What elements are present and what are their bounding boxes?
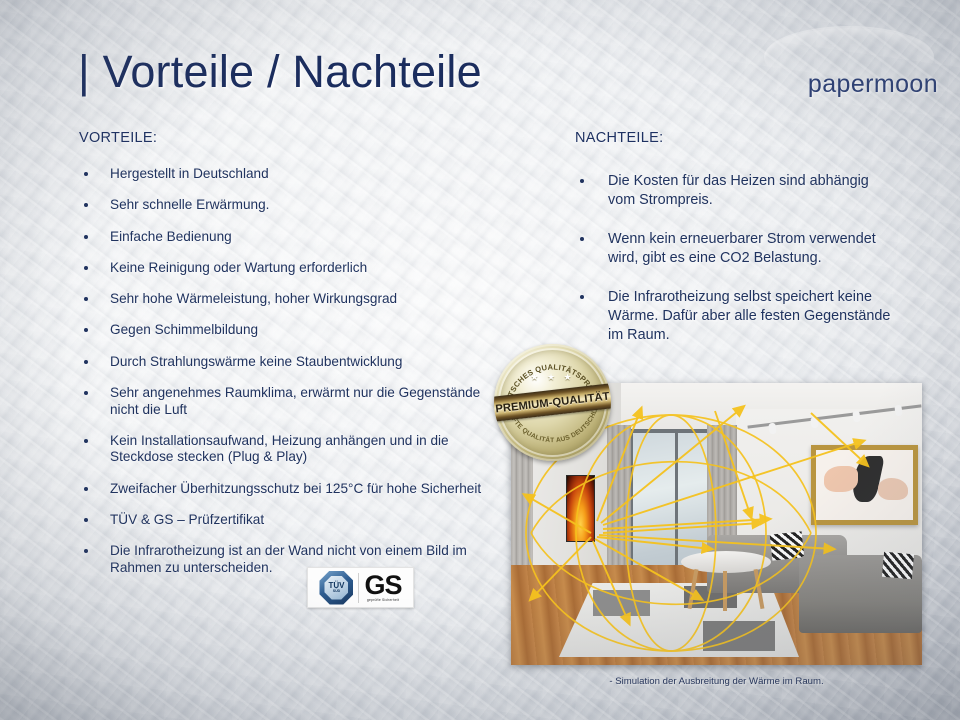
photo-caption: - Simulation der Ausbreitung der Wärme i… — [511, 676, 922, 687]
tuv-octagon-icon: TÜV SÜD — [319, 571, 353, 605]
tuv-sublabel: SÜD — [333, 589, 341, 593]
list-item: Sehr angenehmes Raumklima, erwärmt nur d… — [79, 385, 509, 418]
list-item: Die Kosten für das Heizen sind abhängig … — [575, 172, 895, 210]
list-item: Durch Strahlungswärme keine Staubentwick… — [79, 354, 509, 371]
list-item-label: Die Infrarotheizung ist an der Wand nich… — [79, 543, 509, 576]
list-item-label: Gegen Schimmelbildung — [79, 322, 509, 339]
list-item: Gegen Schimmelbildung — [79, 322, 509, 339]
list-item-label: TÜV & GS – Prüfzertifikat — [79, 512, 509, 529]
list-item-label: Wenn kein erneuerbarer Strom verwendet w… — [575, 230, 895, 268]
tuv-gs-certificate-icon: TÜV SÜD GS geprüfte Sicherheit — [307, 567, 414, 608]
gs-sublabel: geprüfte Sicherheit — [367, 598, 399, 602]
list-item: Die Infrarotheizung selbst speichert kei… — [575, 288, 895, 345]
list-item-label: Die Infrarotheizung selbst speichert kei… — [575, 288, 895, 345]
list-item: Kein Installationsaufwand, Heizung anhän… — [79, 433, 509, 466]
slide-canvas: | Vorteile / Nachteile papermoon VORTEIL… — [0, 0, 960, 720]
page-title: | Vorteile / Nachteile — [78, 46, 482, 98]
brand-logo: papermoon — [758, 48, 938, 106]
list-item-label: Einfache Bedienung — [79, 229, 509, 246]
bullet-icon — [84, 487, 88, 491]
bullet-icon — [84, 172, 88, 176]
list-item-label: Kein Installationsaufwand, Heizung anhän… — [79, 433, 509, 466]
list-item-label: Die Kosten für das Heizen sind abhängig … — [575, 172, 895, 210]
list-item: Wenn kein erneuerbarer Strom verwendet w… — [575, 230, 895, 268]
list-item: Hergestellt in Deutschland — [79, 166, 509, 183]
list-item-label: Hergestellt in Deutschland — [79, 166, 509, 183]
list-item: Die Infrarotheizung ist an der Wand nich… — [79, 543, 509, 576]
gs-label: GS — [364, 573, 401, 598]
list-item-label: Keine Reinigung oder Wartung erforderlic… — [79, 260, 509, 277]
bullet-icon — [84, 518, 88, 522]
list-item-label: Durch Strahlungswärme keine Staubentwick… — [79, 354, 509, 371]
bullet-icon — [84, 235, 88, 239]
tuv-label: TÜV — [328, 582, 344, 589]
nachteile-heading: NACHTEILE: — [575, 130, 663, 146]
bullet-icon — [84, 266, 88, 270]
list-item: Einfache Bedienung — [79, 229, 509, 246]
list-item-label: Sehr angenehmes Raumklima, erwärmt nur d… — [79, 385, 509, 418]
bullet-icon — [580, 295, 584, 299]
vorteile-list: Hergestellt in Deutschland Sehr schnelle… — [79, 166, 509, 591]
list-item-label: Sehr hohe Wärmeleistung, hoher Wirkungsg… — [79, 291, 509, 308]
list-item-label: Zweifacher Überhitzungsschutz bei 125°C … — [79, 481, 509, 498]
seal-stars: ★ ★ ★ — [494, 372, 611, 383]
brand-wordmark: papermoon — [758, 70, 938, 99]
list-item: Zweifacher Überhitzungsschutz bei 125°C … — [79, 481, 509, 498]
vorteile-heading: VORTEILE: — [79, 130, 157, 146]
list-item: Keine Reinigung oder Wartung erforderlic… — [79, 260, 509, 277]
list-item: TÜV & GS – Prüfzertifikat — [79, 512, 509, 529]
premium-quality-seal: DEUTSCHES QUALITÄTSPRODUKT GEPRÜFTE QUAL… — [494, 344, 611, 461]
nachteile-list: Die Kosten für das Heizen sind abhängig … — [575, 172, 895, 365]
badge-divider — [358, 573, 359, 603]
bullet-icon — [580, 179, 584, 183]
list-item: Sehr hohe Wärmeleistung, hoher Wirkungsg… — [79, 291, 509, 308]
bullet-icon — [84, 360, 88, 364]
list-item-label: Sehr schnelle Erwärmung. — [79, 197, 509, 214]
bullet-icon — [84, 439, 88, 443]
tuv-octagon-inner: TÜV SÜD — [324, 576, 348, 600]
gs-mark-icon: GS geprüfte Sicherheit — [364, 573, 401, 602]
bullet-icon — [580, 237, 584, 241]
list-item: Sehr schnelle Erwärmung. — [79, 197, 509, 214]
